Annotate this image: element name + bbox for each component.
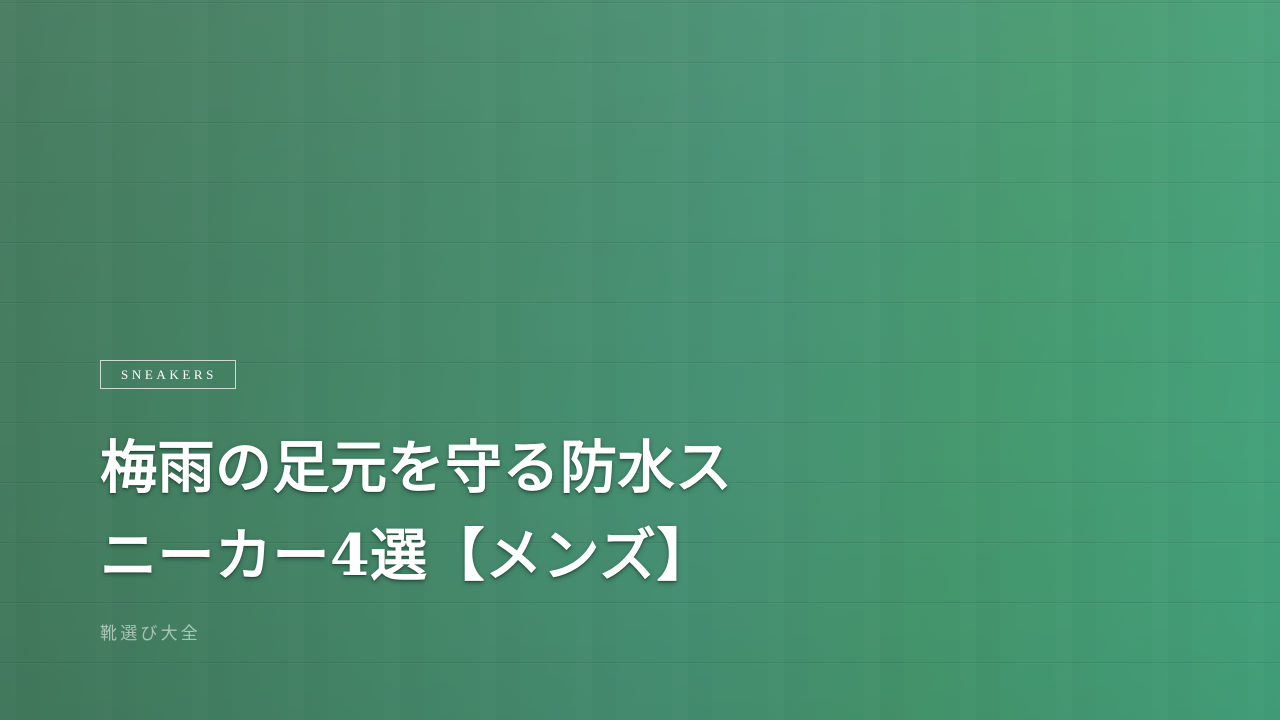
category-badge[interactable]: SNEAKERS — [100, 360, 236, 389]
page-title: 梅雨の足元を守る防水ス ニーカー4選【メンズ】 — [100, 424, 740, 600]
site-name: 靴選び大全 — [100, 626, 201, 643]
category-badge-label: SNEAKERS — [119, 368, 217, 381]
page-title-line-2: ニーカー4選【メンズ】 — [100, 512, 740, 600]
hero-content: SNEAKERS 梅雨の足元を守る防水ス ニーカー4選【メンズ】 靴選び大全 — [100, 0, 1180, 720]
hero-thumbnail-canvas: SNEAKERS 梅雨の足元を守る防水ス ニーカー4選【メンズ】 靴選び大全 — [0, 0, 1280, 720]
page-title-line-1: 梅雨の足元を守る防水ス — [100, 424, 740, 512]
